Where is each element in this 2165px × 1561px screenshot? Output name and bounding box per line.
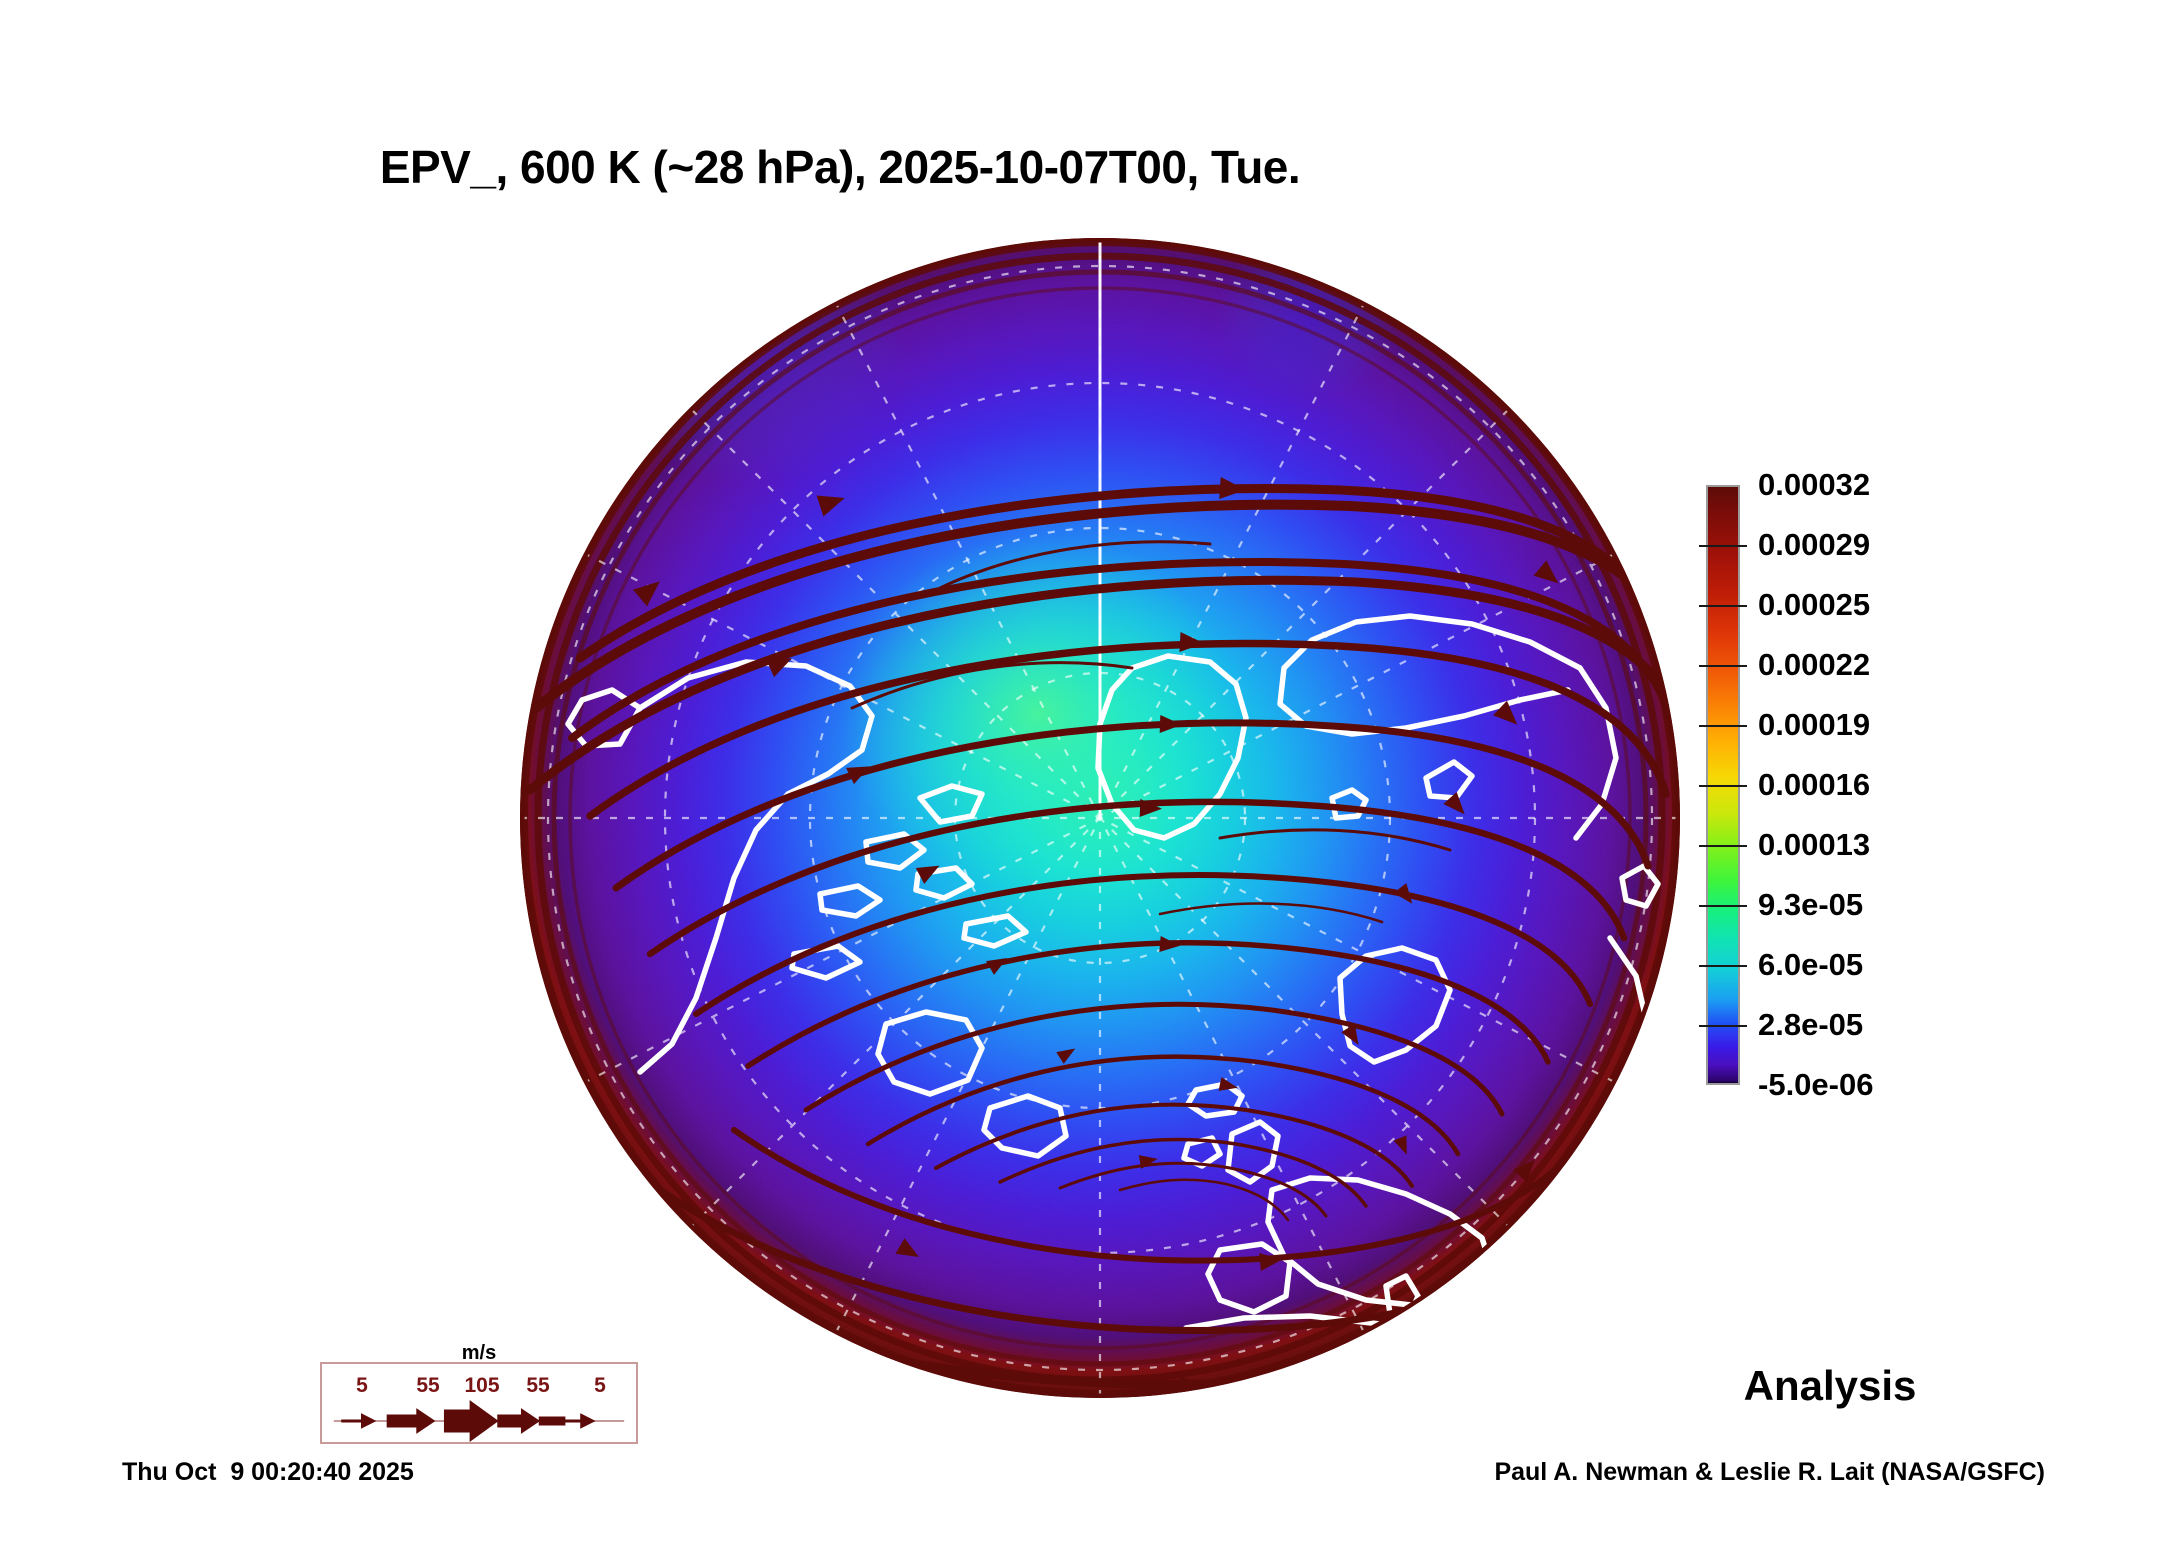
wind-legend-arrows xyxy=(322,1398,636,1444)
colorbar-tick xyxy=(1699,1025,1747,1027)
colorbar-tick xyxy=(1699,665,1747,667)
colorbar-label: 6.0e-05 xyxy=(1758,947,1863,983)
plot-canvas: EPV_, 600 K (~28 hPa), 2025-10-07T00, Tu… xyxy=(0,0,2165,1561)
colorbar-tick xyxy=(1699,545,1747,547)
colorbar-tick xyxy=(1699,845,1747,847)
colorbar-label: 0.00022 xyxy=(1758,647,1870,683)
epv-field xyxy=(520,238,1680,1398)
wind-speed-legend: m/s 5 55 105 55 5 xyxy=(320,1362,638,1444)
globe-disc xyxy=(520,238,1680,1398)
colorbar-label: 0.00032 xyxy=(1758,467,1870,503)
analysis-label: Analysis xyxy=(1680,1362,1980,1410)
page-title: EPV_, 600 K (~28 hPa), 2025-10-07T00, Tu… xyxy=(0,140,1680,194)
generation-timestamp: Thu Oct 9 00:20:40 2025 xyxy=(122,1458,414,1487)
wind-legend-value: 105 xyxy=(464,1374,499,1398)
colorbar[interactable]: 0.00032 0.00029 0.00025 0.00022 0.00019 … xyxy=(1706,485,1740,1085)
wind-legend-value: 55 xyxy=(526,1374,549,1398)
colorbar-label: 0.00019 xyxy=(1758,707,1870,743)
attribution-text: Paul A. Newman & Leslie R. Lait (NASA/GS… xyxy=(1494,1458,2045,1487)
colorbar-tick xyxy=(1699,965,1747,967)
colorbar-label: 0.00029 xyxy=(1758,527,1870,563)
wind-legend-units: m/s xyxy=(322,1342,636,1365)
colorbar-label: 9.3e-05 xyxy=(1758,887,1863,923)
wind-legend-value: 5 xyxy=(356,1374,368,1398)
colorbar-tick-labels: 0.00032 0.00029 0.00025 0.00022 0.00019 … xyxy=(1758,485,1998,1085)
colorbar-tick xyxy=(1699,905,1747,907)
colorbar-tick xyxy=(1699,725,1747,727)
colorbar-label: 0.00016 xyxy=(1758,767,1870,803)
colorbar-tick xyxy=(1699,785,1747,787)
polar-map[interactable] xyxy=(520,238,1680,1398)
colorbar-label: 0.00013 xyxy=(1758,827,1870,863)
colorbar-label: 0.00025 xyxy=(1758,587,1870,623)
colorbar-label: 2.8e-05 xyxy=(1758,1007,1863,1043)
wind-legend-value: 5 xyxy=(594,1374,606,1398)
wind-legend-value: 55 xyxy=(416,1374,439,1398)
colorbar-label: -5.0e-06 xyxy=(1758,1067,1873,1103)
colorbar-tick xyxy=(1699,605,1747,607)
